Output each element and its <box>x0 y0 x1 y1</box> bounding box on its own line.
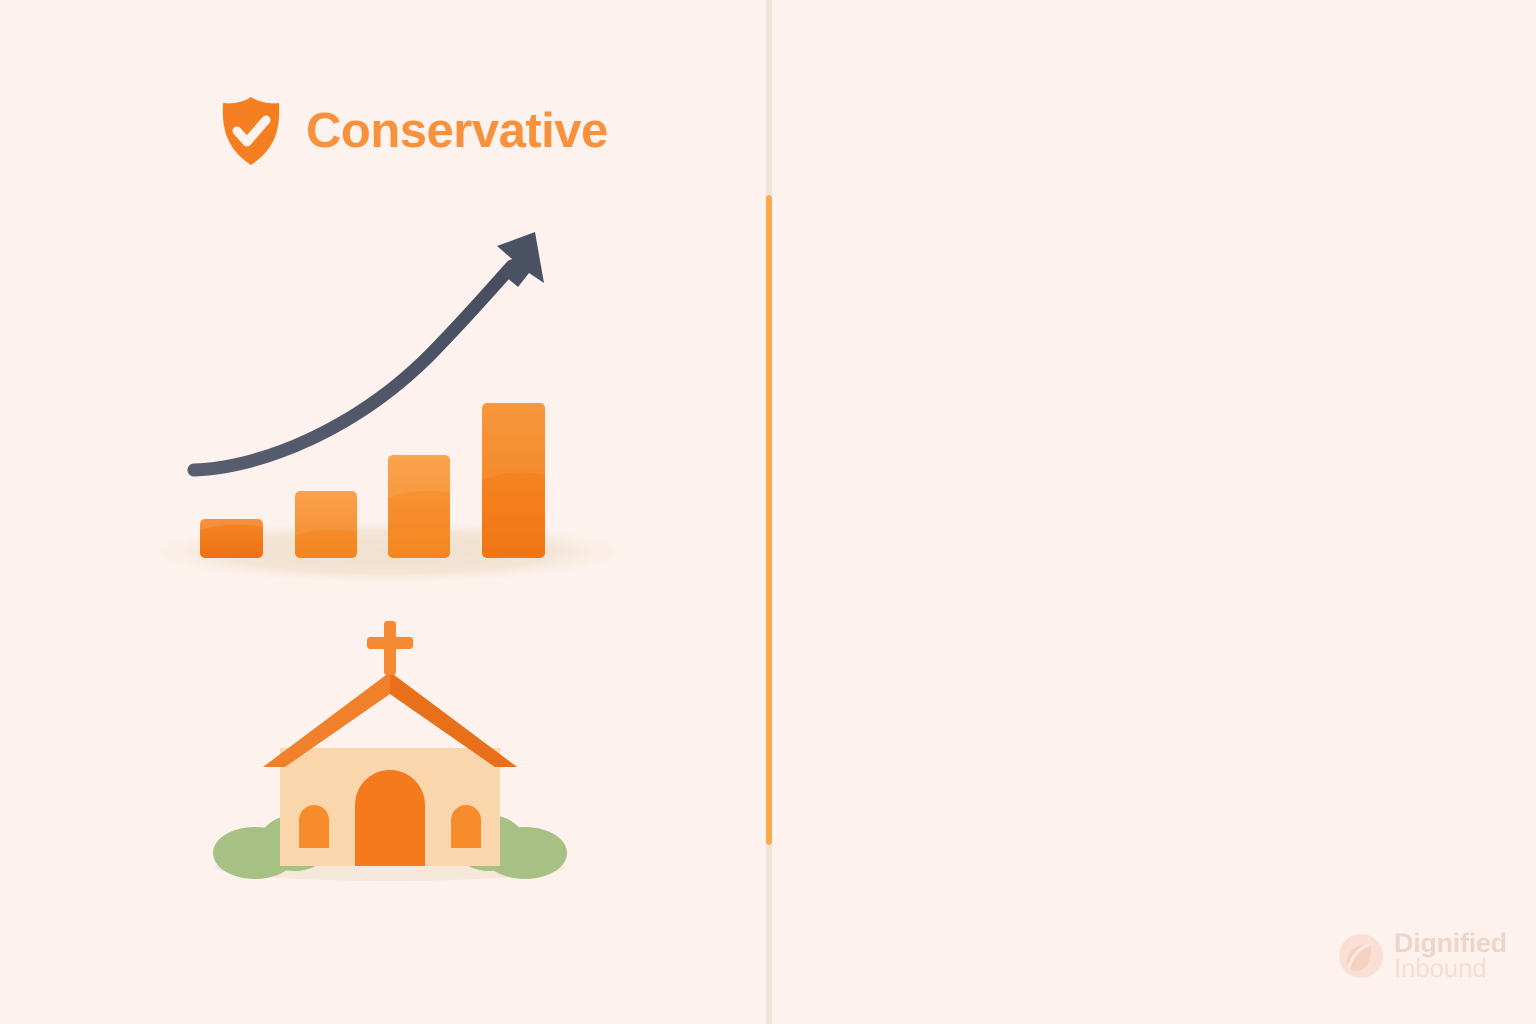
watermark-line-2: Inbound <box>1394 955 1507 981</box>
chapel-door <box>355 770 425 866</box>
chapel-window-left <box>299 805 329 848</box>
panel-conservative: Conservative <box>0 0 768 1024</box>
comparison-infographic: Conservative <box>0 0 1536 1024</box>
conservative-growth-chart <box>140 180 700 600</box>
shield-check-icon <box>218 95 284 167</box>
leaf-swirl-logo-icon <box>1338 933 1384 979</box>
conservative-header: Conservative <box>218 95 608 167</box>
divider-accent-line <box>766 195 772 845</box>
small-chapel-illustration <box>195 615 585 890</box>
cross-icon <box>367 621 413 675</box>
watermark-text: Dignified Inbound <box>1394 930 1507 981</box>
panel-investor: $ $ Investor <box>768 0 1536 1024</box>
conservative-title: Conservative <box>306 107 608 156</box>
chapel-window-right <box>451 805 481 848</box>
dignified-inbound-watermark: Dignified Inbound <box>1338 930 1507 981</box>
